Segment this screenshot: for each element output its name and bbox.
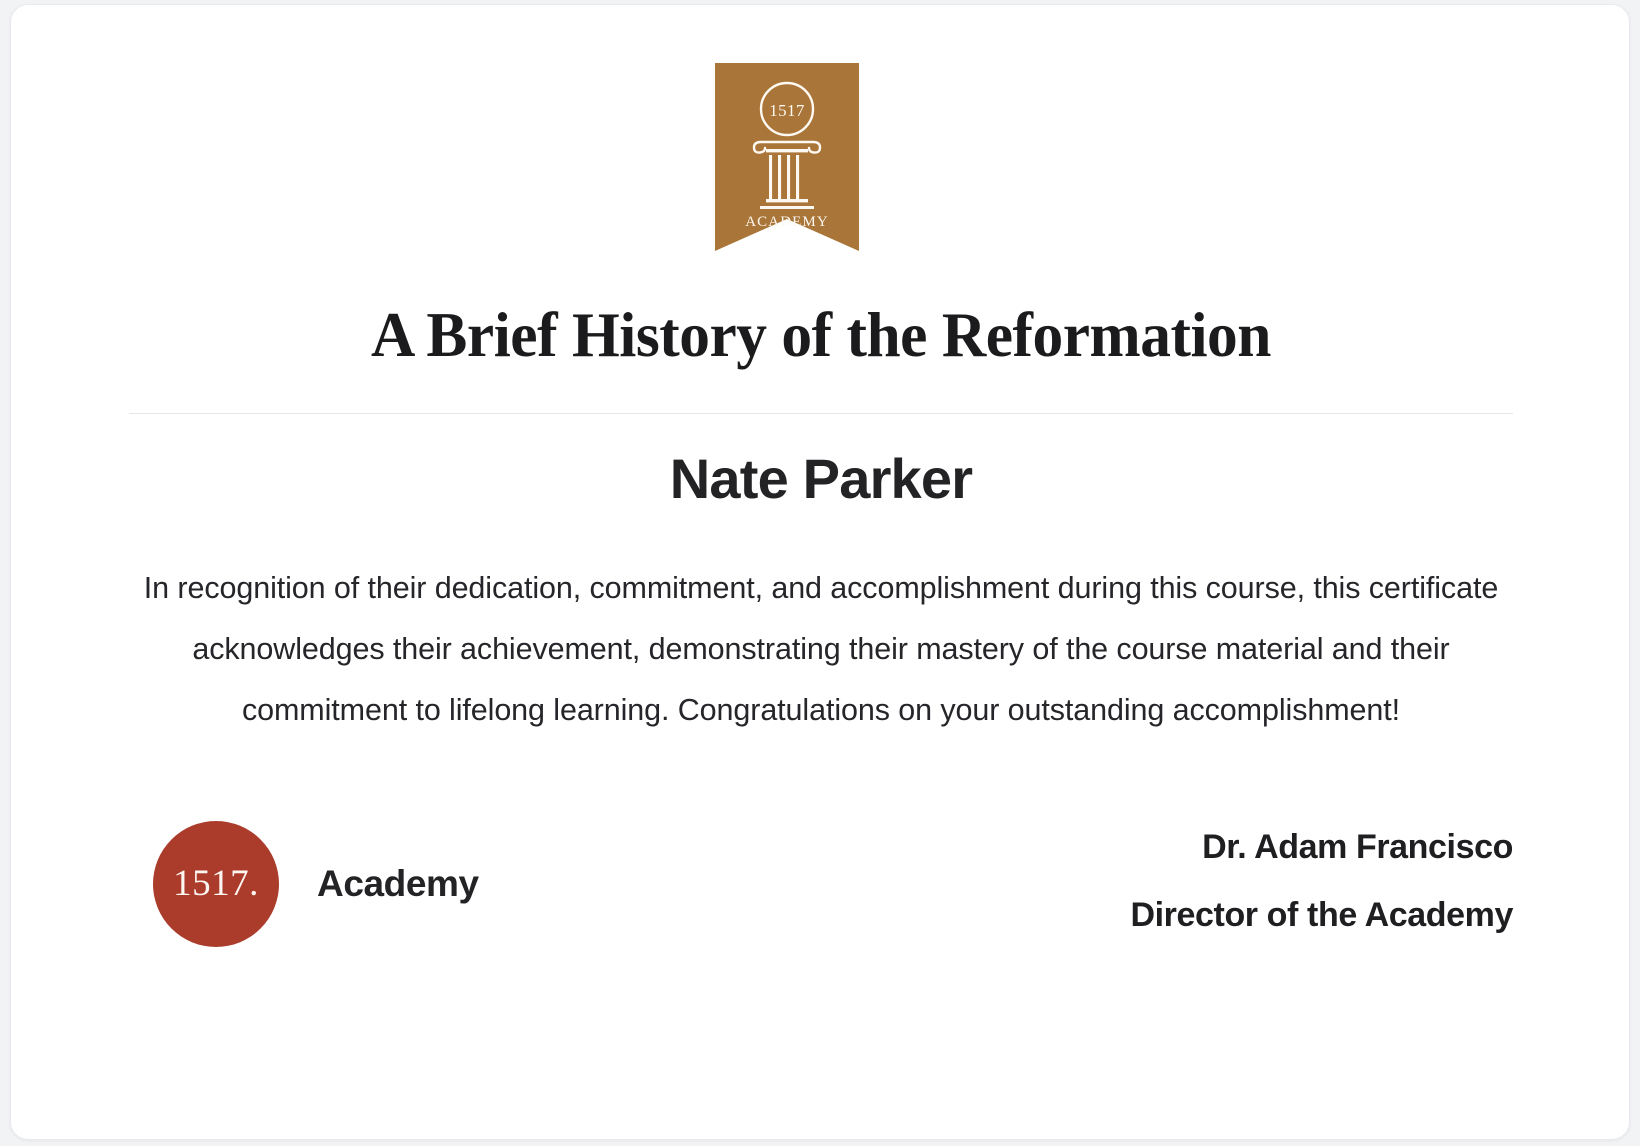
signatory-role: Director of the Academy bbox=[1130, 881, 1513, 949]
academy-mark: 1517. Academy bbox=[153, 821, 479, 947]
page-title: A Brief History of the Reformation bbox=[43, 301, 1598, 368]
1517-seal-icon: 1517. bbox=[153, 821, 279, 947]
recognition-text: In recognition of their dedication, comm… bbox=[129, 558, 1513, 741]
svg-text:ACADEMY: ACADEMY bbox=[745, 214, 829, 230]
signatory-name: Dr. Adam Francisco bbox=[1130, 813, 1513, 881]
organization-label: Academy bbox=[317, 863, 479, 905]
academy-banner-logo: 1517 ACADEMY bbox=[715, 63, 859, 251]
seal-year-label: 1517. bbox=[173, 865, 259, 904]
certificate-footer: 1517. Academy Dr. Adam Francisco Directo… bbox=[129, 805, 1513, 965]
recipient-name: Nate Parker bbox=[11, 448, 1630, 511]
svg-text:1517: 1517 bbox=[769, 101, 805, 120]
signatory-block: Dr. Adam Francisco Director of the Acade… bbox=[1130, 813, 1513, 949]
title-divider bbox=[129, 413, 1513, 414]
certificate-card: 1517 ACADEMY A Brief History of the Refo… bbox=[10, 4, 1630, 1140]
